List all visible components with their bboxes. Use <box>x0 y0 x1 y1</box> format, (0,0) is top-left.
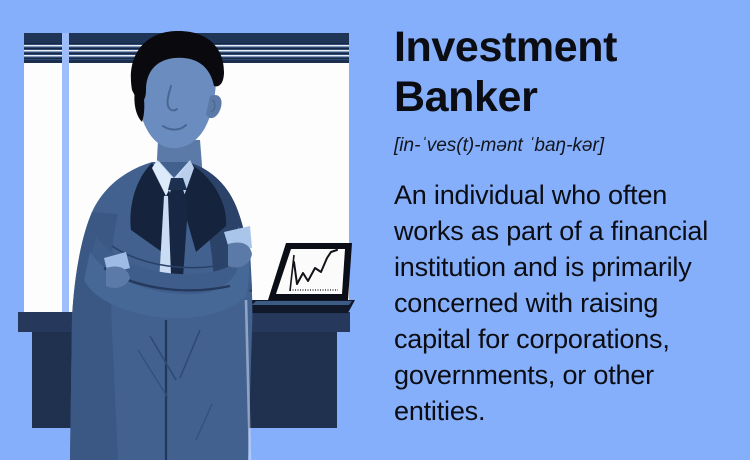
pronunciation-respelling: [in-ˈves(t)-mənt ˈbaŋ-kər] <box>394 134 734 158</box>
laptop-base-highlight <box>252 301 352 305</box>
page-title: Investment Banker <box>394 22 734 122</box>
window-mullion-left-top <box>62 33 69 63</box>
definition-text-column: Investment Banker [in-ˈves(t)-mənt ˈbaŋ-… <box>394 22 734 456</box>
investment-banker-illustration <box>0 0 375 460</box>
definition-card: Investment Banker [in-ˈves(t)-mənt ˈbaŋ-… <box>0 0 750 460</box>
window-mullion-left <box>62 33 69 315</box>
definition-body: An individual who often works as part of… <box>394 177 734 429</box>
